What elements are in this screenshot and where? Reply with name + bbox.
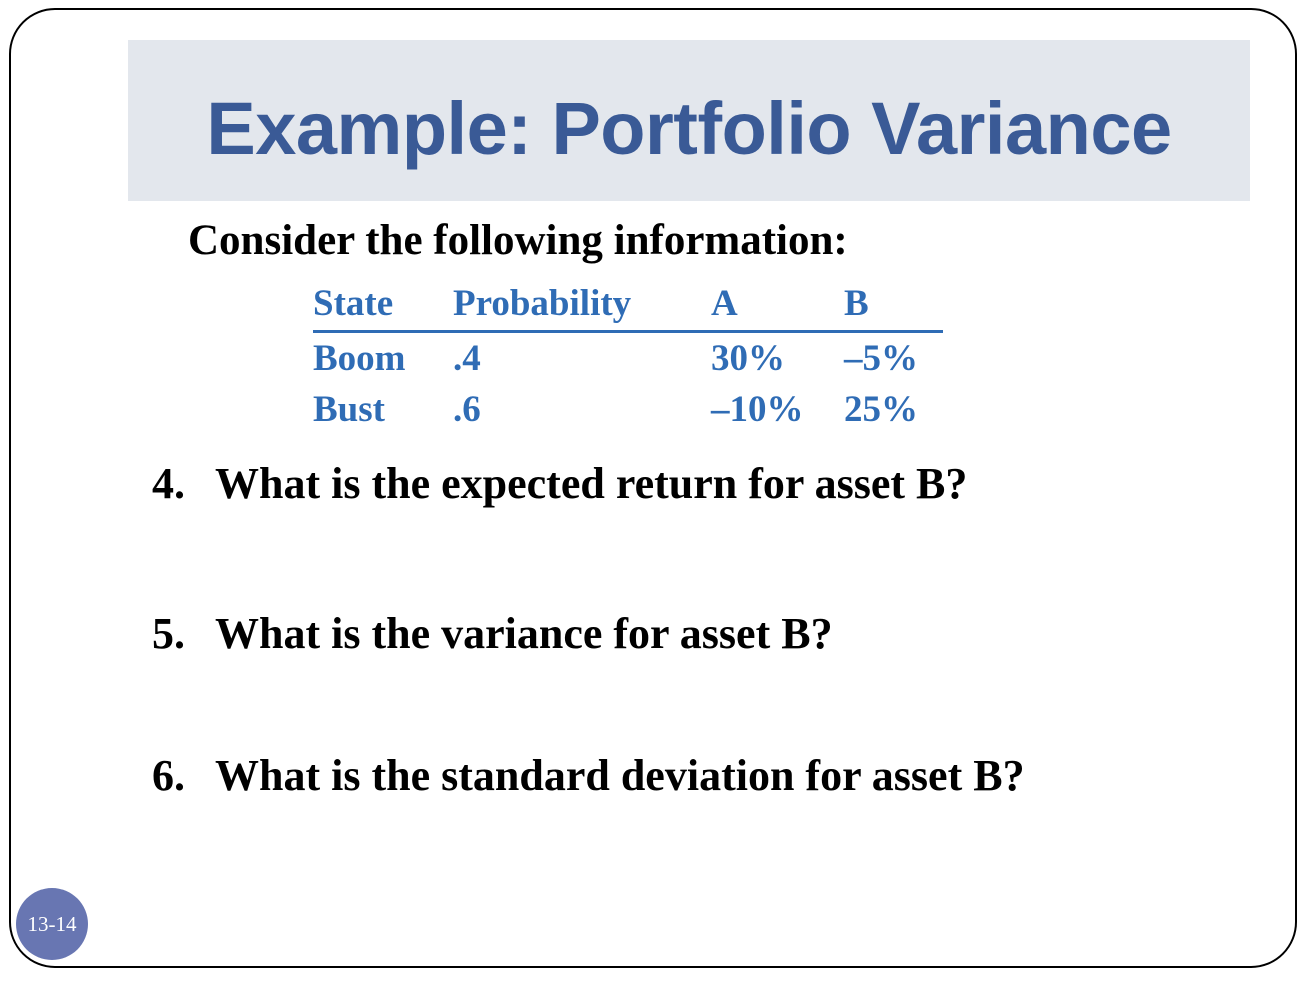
list-item-label: What is the standard deviation for asset… [215,750,1025,802]
cell-a: 30% [711,333,844,384]
presentation-slide: Example: Portfolio Variance Consider the… [0,0,1306,984]
list-item: 5. What is the variance for asset B? [152,608,833,660]
cell-probability: .4 [453,333,711,384]
slide-body: Consider the following information: Stat… [0,0,1306,984]
table-header-probability: Probability [453,278,711,329]
cell-a: –10% [711,384,844,435]
list-item: 6. What is the standard deviation for as… [152,750,1025,802]
list-item-label: What is the expected return for asset B? [215,458,967,510]
table-header-a: A [711,278,844,329]
page-number-label: 13-14 [28,912,77,937]
returns-table: State Probability A B Boom .4 30% –5% Bu… [313,278,943,435]
table-header-b: B [844,278,943,329]
table-row: Boom .4 30% –5% [313,333,943,384]
list-item-number: 4. [152,458,215,510]
list-item-label: What is the variance for asset B? [215,608,833,660]
cell-state: Bust [313,384,453,435]
list-item-number: 6. [152,750,215,802]
cell-state: Boom [313,333,453,384]
cell-b: 25% [844,384,943,435]
table-header-state: State [313,278,453,329]
list-item: 4. What is the expected return for asset… [152,458,967,510]
table-header-row: State Probability A B [313,278,943,333]
list-item-number: 5. [152,608,215,660]
cell-b: –5% [844,333,943,384]
table-row: Bust .6 –10% 25% [313,384,943,435]
lead-in-text: Consider the following information: [188,216,848,266]
cell-probability: .6 [453,384,711,435]
page-number-badge: 13-14 [16,888,88,960]
